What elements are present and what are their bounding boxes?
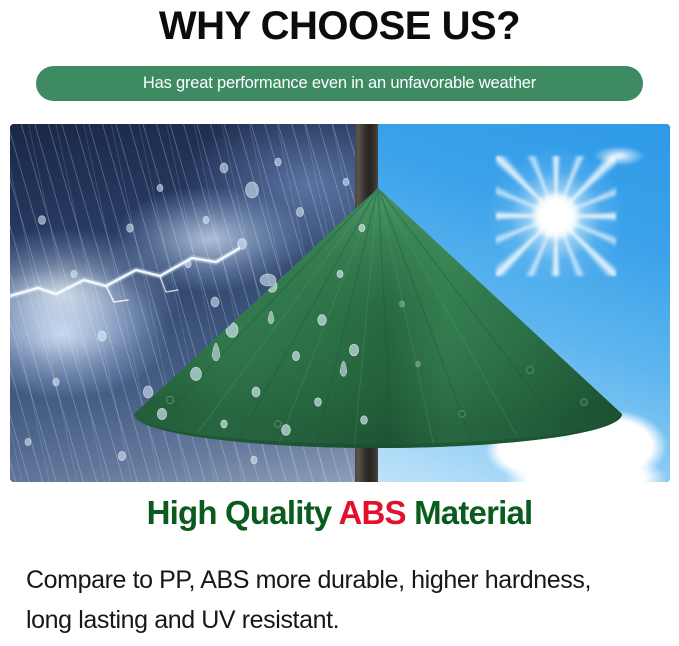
body-copy-line-1: Compare to PP, ABS more durable, higher …: [26, 560, 666, 600]
feature-badge-label: Has great performance even in an unfavor…: [143, 75, 536, 92]
caption-highlight: ABS: [338, 494, 405, 531]
body-copy-line-2: long lasting and UV resistant.: [26, 600, 666, 640]
caption-suffix: Material: [406, 494, 533, 531]
product-photo: [10, 124, 670, 482]
feature-badge: Has great performance even in an unfavor…: [36, 66, 643, 101]
caption-headline: High Quality ABS Material: [0, 493, 679, 533]
page-title: WHY CHOOSE US?: [0, 2, 679, 50]
mounting-pole: [355, 124, 378, 482]
sunny-scene: [378, 124, 670, 482]
stormy-scene: [10, 124, 378, 482]
sun-burst-icon: [496, 156, 616, 276]
caption-prefix: High Quality: [147, 494, 339, 531]
water-droplets-background: [10, 124, 378, 482]
body-copy: Compare to PP, ABS more durable, higher …: [26, 560, 666, 640]
cloud-bottom-right: [486, 406, 670, 482]
cloud-top-right: [584, 142, 654, 170]
